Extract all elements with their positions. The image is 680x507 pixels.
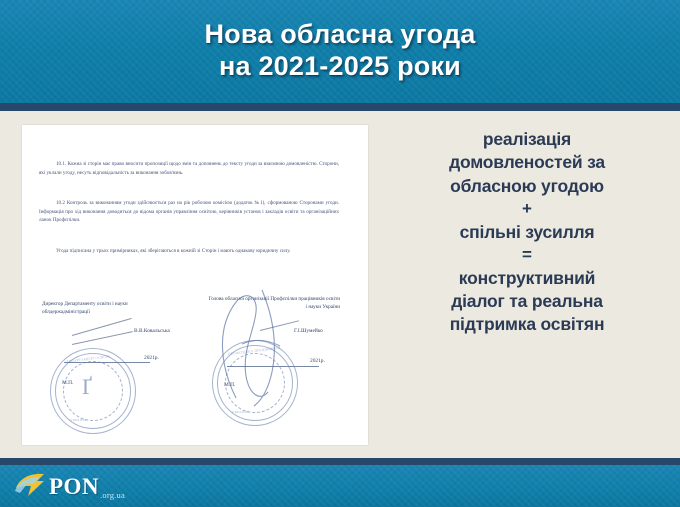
footer-banner: PON .org.ua	[0, 465, 680, 507]
header-divider-stripe	[0, 103, 680, 111]
site-logo-tld: .org.ua	[100, 490, 125, 500]
scanned-agreement-document: 10.1. Кожна зі сторін має право вносити …	[22, 125, 368, 445]
key-message-panel: реалізація домовленостей за обласною уго…	[378, 122, 676, 422]
footer-divider-stripe	[0, 458, 680, 465]
page-title: Нова обласна угода на 2021-2025 роки	[204, 19, 475, 85]
plus-symbol: +	[522, 198, 532, 221]
document-paragraph-closing: Угода підписана у трьох примірниках, які…	[39, 247, 339, 256]
signature-left-year: 2021р.	[144, 355, 159, 361]
message-line-result: конструктивний діалог та реальна підтрим…	[450, 267, 605, 337]
signature-left-name: В.В.Ковальська	[134, 328, 170, 334]
header-banner: Нова обласна угода на 2021-2025 роки	[0, 0, 680, 103]
site-logo[interactable]: PON .org.ua	[14, 469, 125, 503]
signature-right-year: 2021р.	[310, 358, 325, 364]
slide-body: 10.1. Кожна зі сторін має право вносити …	[0, 111, 680, 458]
document-paragraph-10-1: 10.1. Кожна зі сторін має право вносити …	[39, 160, 339, 177]
message-line-implementation: реалізація домовленостей за обласною уго…	[449, 128, 605, 198]
stamp-left-bottom-text: УКРАЇНА	[70, 418, 87, 422]
equals-symbol: =	[522, 244, 532, 267]
signature-left-role: Директор Департаменту освіти і науки обл…	[42, 300, 174, 317]
handwritten-signature-mark	[202, 280, 312, 410]
signature-block: Директор Департаменту освіти і науки обл…	[22, 300, 368, 445]
document-page: 10.1. Кожна зі сторін має право вносити …	[22, 125, 368, 445]
site-logo-text: PON	[49, 475, 99, 498]
trident-emblem-icon: Ґ	[82, 376, 92, 398]
document-paragraph-10-2: 10.2 Контроль за виконанням угоди здійсн…	[39, 199, 339, 225]
message-line-joint-efforts: спільні зусилля	[460, 221, 595, 244]
lightning-swoosh-icon	[14, 471, 48, 501]
stamp-right-bottom-text: УКРАЇНИ	[232, 410, 249, 414]
stamp-left-inner-ring	[63, 361, 123, 421]
